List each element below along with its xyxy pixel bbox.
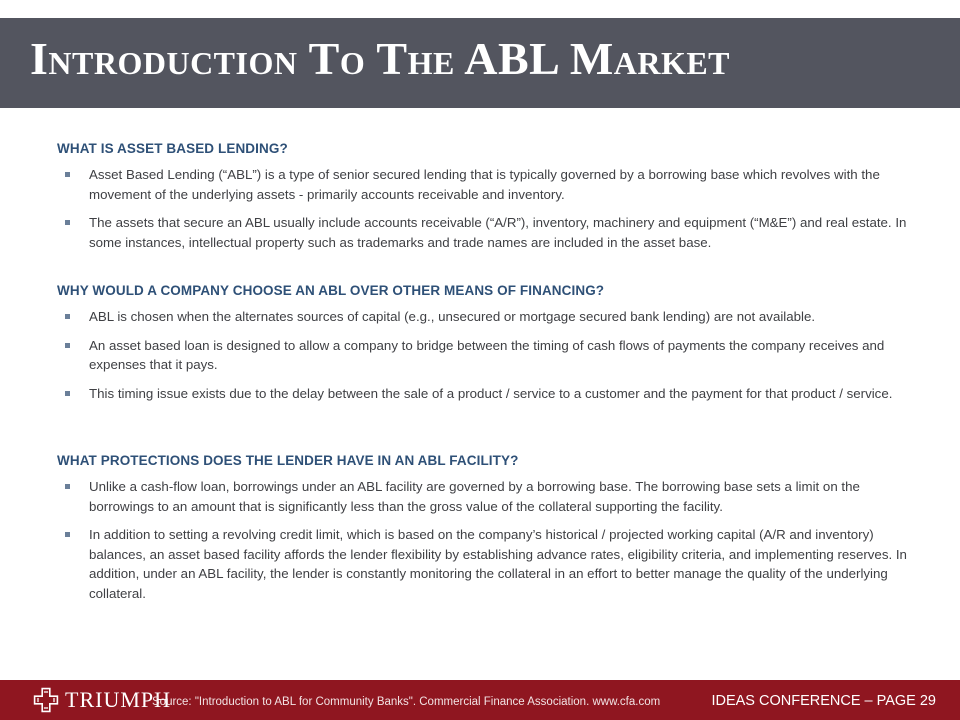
bullet-list: Asset Based Lending (“ABL”) is a type of… [57,165,907,252]
section-lender-protections: WHAT PROTECTIONS DOES THE LENDER HAVE IN… [57,453,907,603]
square-bullet-icon [65,532,70,537]
section-heading: WHY WOULD A COMPANY CHOOSE AN ABL OVER O… [57,283,907,298]
list-item: Asset Based Lending (“ABL”) is a type of… [57,165,917,204]
square-bullet-icon [65,343,70,348]
brand-logo: TRIUMPH [33,686,171,714]
square-bullet-icon [65,314,70,319]
list-item: Unlike a cash-flow loan, borrowings unde… [57,477,921,516]
list-item: In addition to setting a revolving credi… [57,525,921,603]
triumph-cross-icon [33,687,59,713]
page-title: Introduction To The ABL Market [30,36,730,82]
bullet-list: Unlike a cash-flow loan, borrowings unde… [57,477,907,603]
list-item-text: Unlike a cash-flow loan, borrowings unde… [89,477,921,516]
list-item: The assets that secure an ABL usually in… [57,213,917,252]
list-item-text: This timing issue exists due to the dela… [89,384,909,404]
section-heading: WHAT IS ASSET BASED LENDING? [57,141,907,156]
list-item: This timing issue exists due to the dela… [57,384,909,404]
list-item: An asset based loan is designed to allow… [57,336,909,375]
section-why-choose-abl: WHY WOULD A COMPANY CHOOSE AN ABL OVER O… [57,283,907,403]
square-bullet-icon [65,220,70,225]
list-item: ABL is chosen when the alternates source… [57,307,909,327]
page-number-label: IDEAS CONFERENCE – PAGE 29 [711,692,936,710]
square-bullet-icon [65,172,70,177]
bullet-list: ABL is chosen when the alternates source… [57,307,907,403]
source-citation: Source: "Introduction to ABL for Communi… [152,695,660,709]
square-bullet-icon [65,391,70,396]
list-item-text: The assets that secure an ABL usually in… [89,213,917,252]
slide-content: WHAT IS ASSET BASED LENDING? Asset Based… [0,108,960,680]
list-item-text: ABL is chosen when the alternates source… [89,307,909,327]
list-item-text: In addition to setting a revolving credi… [89,525,921,603]
section-heading: WHAT PROTECTIONS DOES THE LENDER HAVE IN… [57,453,907,468]
list-item-text: An asset based loan is designed to allow… [89,336,909,375]
list-item-text: Asset Based Lending (“ABL”) is a type of… [89,165,917,204]
section-what-is-asset-based-lending: WHAT IS ASSET BASED LENDING? Asset Based… [57,141,907,252]
square-bullet-icon [65,484,70,489]
